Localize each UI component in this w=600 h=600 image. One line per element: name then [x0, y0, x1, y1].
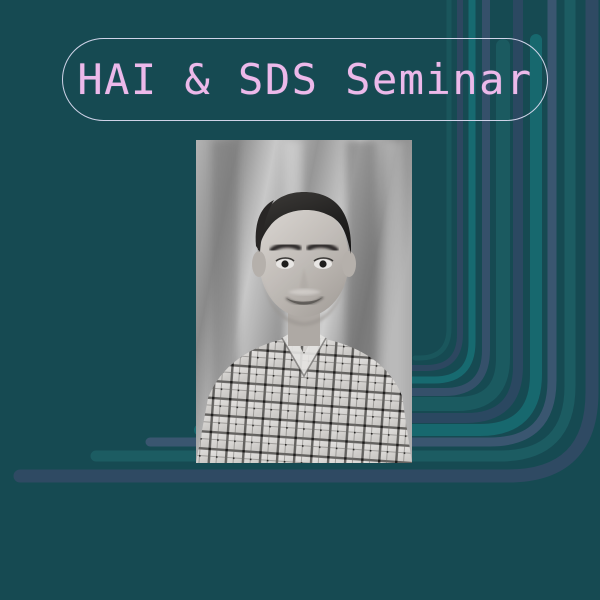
- seminar-slide: HAI & SDS Seminar: [0, 0, 600, 600]
- title-pill: HAI & SDS Seminar: [62, 38, 548, 121]
- speaker-portrait: [196, 140, 412, 463]
- page-title: HAI & SDS Seminar: [77, 59, 532, 101]
- portrait-image: [196, 140, 412, 463]
